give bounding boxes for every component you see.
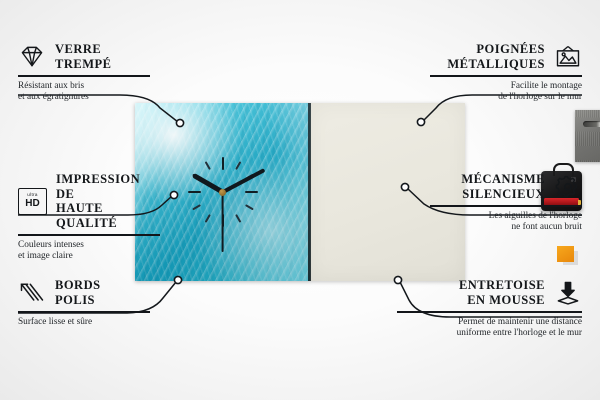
ultra-hd-icon-large-text: HD: [25, 199, 39, 209]
feature-rule: [18, 311, 150, 313]
feature-subtitle: Surface lisse et sûre: [18, 317, 150, 328]
leader-endpoint: [176, 119, 183, 126]
feature-impression-haute-qualite: ultra HD IMPRESSION DE HAUTE QUALITÉ Cou…: [18, 172, 160, 262]
ultra-hd-icon: ultra HD: [18, 188, 47, 215]
feature-title: IMPRESSION DE HAUTE QUALITÉ: [56, 172, 160, 230]
feature-subtitle: Résistant aux bris et aux égratignures: [18, 81, 150, 104]
feature-rule: [18, 234, 160, 236]
wall-mount-frame-icon: [554, 44, 582, 70]
diamond-icon: [18, 44, 46, 70]
gear-icon: [554, 174, 582, 200]
feature-subtitle: Facilite le montage de l'horloge sur le …: [430, 81, 582, 104]
feature-rule: [18, 75, 150, 77]
feature-rule: [430, 75, 582, 77]
feature-title: MÉCANISME SILENCIEUX: [461, 172, 545, 201]
feature-title: VERRE TREMPÉ: [55, 42, 111, 71]
feature-subtitle: Couleurs intenses et image claire: [18, 240, 160, 263]
foam-spacer-arrow-icon: [554, 280, 582, 306]
leader-endpoint: [401, 183, 408, 190]
leader-endpoint: [170, 191, 177, 198]
feature-title: POIGNÉES MÉTALLIQUES: [447, 42, 545, 71]
feature-verre-trempe: VERRE TREMPÉ Résistant aux bris et aux é…: [18, 42, 150, 103]
feature-subtitle: Permet de maintenir une distance uniform…: [397, 317, 582, 340]
feature-rule: [430, 205, 582, 207]
feature-mecanisme-silencieux: MÉCANISME SILENCIEUX Les aiguilles de l'…: [430, 172, 582, 233]
feature-poignees-metalliques: POIGNÉES MÉTALLIQUES Facilite le montage…: [430, 42, 582, 103]
feature-subtitle: Les aiguilles de l'horloge ne font aucun…: [430, 211, 582, 234]
infographic-canvas: VERRE TREMPÉ Résistant aux bris et aux é…: [0, 0, 600, 400]
feature-title: BORDS POLIS: [55, 278, 101, 307]
feature-rule: [397, 311, 582, 313]
feature-entretoise-en-mousse: ENTRETOISE EN MOUSSE Permet de maintenir…: [397, 278, 582, 339]
polished-edges-icon: [18, 280, 46, 306]
leader-endpoint: [417, 118, 424, 125]
feature-bords-polis: BORDS POLIS Surface lisse et sûre: [18, 278, 150, 328]
feature-title: ENTRETOISE EN MOUSSE: [459, 278, 545, 307]
leader-endpoint: [174, 276, 181, 283]
